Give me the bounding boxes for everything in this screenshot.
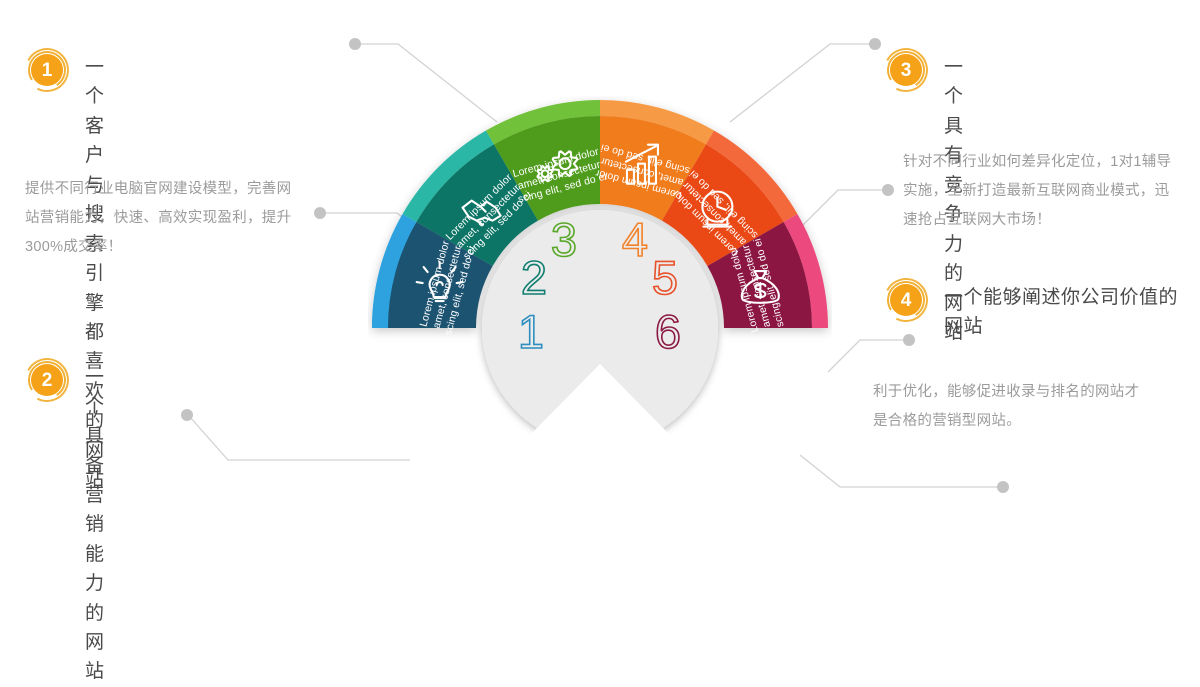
connector-dot-5 [882, 184, 894, 196]
badge-2: 2 [25, 358, 69, 402]
callout-headline-4: 一个能够阐述你公司价值的网站 [944, 283, 1179, 342]
badge-number-1: 1 [31, 54, 63, 86]
callout-body-1: 提供不同行业电脑官网建设模型，完善网站营销能力，快速、高效实现盈利，提升300%… [25, 175, 303, 262]
badge-number-3: 3 [890, 54, 922, 86]
connector-dot-2 [314, 207, 326, 219]
callout-body-3: 针对不同行业如何差异化定位，1对1辅导实施，全新打造最新互联网商业模式，迅速抢占… [903, 148, 1175, 235]
center-number-1: 1 [518, 305, 544, 358]
infographic-canvas: 1 一个客户与搜索引擎都喜欢的网站 提供不同行业电脑官网建设模型，完善网站营销能… [0, 0, 1200, 520]
callout-headline-2: 一个具备营销能力的网站 [85, 363, 105, 687]
badge-4: 4 [884, 278, 928, 322]
badge-number-4: 4 [890, 284, 922, 316]
connector-dot-1 [349, 38, 361, 50]
center-number-5: 5 [652, 251, 678, 304]
center-number-3: 3 [551, 213, 577, 266]
v-notch-cutout [368, 364, 832, 520]
connector-line-6 [828, 340, 905, 372]
badge-1: 1 [25, 48, 69, 92]
callout-body-4: 利于优化，能够促进收录与排名的网站才是合格的营销型网站。 [873, 378, 1148, 436]
center-number-4: 4 [622, 213, 648, 266]
center-number-2: 2 [521, 251, 547, 304]
connector-dot-4 [869, 38, 881, 50]
connector-dot-6 [903, 334, 915, 346]
center-number-6: 6 [655, 305, 681, 358]
connector-dot-3 [181, 409, 193, 421]
badge-number-2: 2 [31, 364, 63, 396]
semicircular-donut-chart: Lorem ipsum doloramet, consecteturscing … [368, 96, 832, 520]
badge-3: 3 [884, 48, 928, 92]
connector-dot-7 [997, 481, 1009, 493]
